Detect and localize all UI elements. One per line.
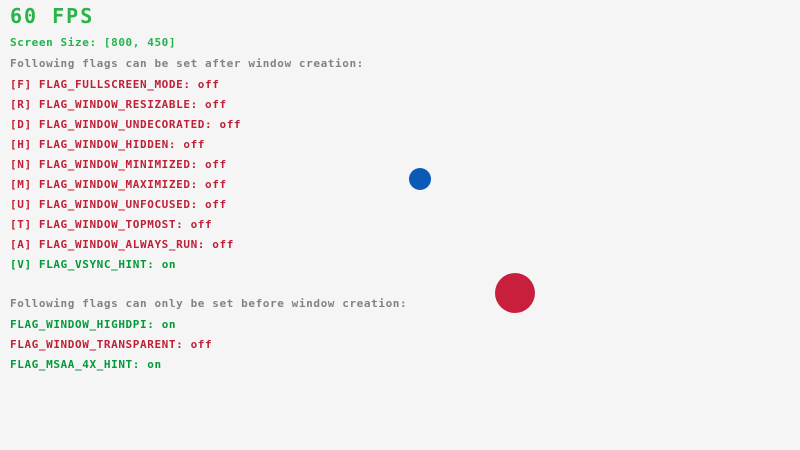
fps-counter: 60 FPS	[10, 6, 94, 26]
flag-row[interactable]: FLAG_WINDOW_TRANSPARENT: off	[10, 339, 212, 359]
flag-row[interactable]: [V] FLAG_VSYNC_HINT: on	[10, 259, 241, 279]
ball-red-circle	[495, 273, 535, 313]
flag-name: FLAG_WINDOW_UNDECORATED	[39, 118, 205, 131]
flag-value: off	[191, 218, 213, 231]
flag-row[interactable]: [T] FLAG_WINDOW_TOPMOST: off	[10, 219, 241, 239]
flag-hotkey: [M]	[10, 178, 39, 191]
flag-value: on	[162, 258, 176, 271]
flag-value: off	[212, 238, 234, 251]
flag-hotkey: [R]	[10, 98, 39, 111]
flag-value: on	[147, 358, 161, 371]
flag-separator: :	[133, 358, 147, 371]
flag-separator: :	[169, 138, 183, 151]
flag-name: FLAG_MSAA_4X_HINT	[10, 358, 133, 371]
flag-name: FLAG_VSYNC_HINT	[39, 258, 147, 271]
flag-row[interactable]: [H] FLAG_WINDOW_HIDDEN: off	[10, 139, 241, 159]
flag-hotkey: [U]	[10, 198, 39, 211]
flag-value: off	[205, 178, 227, 191]
flag-value: off	[191, 338, 213, 351]
flag-value: off	[205, 158, 227, 171]
flag-name: FLAG_WINDOW_UNFOCUSED	[39, 198, 191, 211]
flag-hotkey: [H]	[10, 138, 39, 151]
runtime-flags-list: [F] FLAG_FULLSCREEN_MODE: off[R] FLAG_WI…	[10, 79, 241, 279]
flag-value: off	[183, 138, 205, 151]
flag-hotkey: [T]	[10, 218, 39, 231]
flag-name: FLAG_WINDOW_TRANSPARENT	[10, 338, 176, 351]
flag-separator: :	[198, 238, 212, 251]
flag-row[interactable]: [D] FLAG_WINDOW_UNDECORATED: off	[10, 119, 241, 139]
flag-name: FLAG_FULLSCREEN_MODE	[39, 78, 183, 91]
runtime-flags-header: Following flags can be set after window …	[10, 58, 364, 70]
flag-hotkey: [V]	[10, 258, 39, 271]
ball-blue-circle	[409, 168, 431, 190]
flag-name: FLAG_WINDOW_ALWAYS_RUN	[39, 238, 198, 251]
creation-flags-header: Following flags can only be set before w…	[10, 298, 407, 310]
creation-flags-list: FLAG_WINDOW_HIGHDPI: onFLAG_WINDOW_TRANS…	[10, 319, 212, 379]
raylib-window-canvas[interactable]: 60 FPS Screen Size: [800, 450] Following…	[0, 0, 800, 450]
flag-separator: :	[147, 318, 161, 331]
flag-separator: :	[176, 338, 190, 351]
flag-separator: :	[205, 118, 219, 131]
flag-name: FLAG_WINDOW_MAXIMIZED	[39, 178, 191, 191]
flag-value: off	[198, 78, 220, 91]
flag-hotkey: [D]	[10, 118, 39, 131]
flag-name: FLAG_WINDOW_HIGHDPI	[10, 318, 147, 331]
flag-hotkey: [F]	[10, 78, 39, 91]
flag-value: off	[205, 98, 227, 111]
flag-value: on	[162, 318, 176, 331]
flag-separator: :	[191, 178, 205, 191]
flag-separator: :	[176, 218, 190, 231]
screen-size-label: Screen Size: [800, 450]	[10, 37, 176, 49]
flag-separator: :	[147, 258, 161, 271]
flag-row[interactable]: [M] FLAG_WINDOW_MAXIMIZED: off	[10, 179, 241, 199]
flag-name: FLAG_WINDOW_MINIMIZED	[39, 158, 191, 171]
flag-row[interactable]: [U] FLAG_WINDOW_UNFOCUSED: off	[10, 199, 241, 219]
flag-hotkey: [A]	[10, 238, 39, 251]
flag-value: off	[219, 118, 241, 131]
flag-row[interactable]: [R] FLAG_WINDOW_RESIZABLE: off	[10, 99, 241, 119]
flag-hotkey: [N]	[10, 158, 39, 171]
flag-name: FLAG_WINDOW_TOPMOST	[39, 218, 176, 231]
flag-separator: :	[191, 98, 205, 111]
flag-row[interactable]: FLAG_MSAA_4X_HINT: on	[10, 359, 212, 379]
flag-name: FLAG_WINDOW_RESIZABLE	[39, 98, 191, 111]
flag-value: off	[205, 198, 227, 211]
flag-separator: :	[183, 78, 197, 91]
flag-separator: :	[191, 158, 205, 171]
flag-row[interactable]: FLAG_WINDOW_HIGHDPI: on	[10, 319, 212, 339]
flag-row[interactable]: [N] FLAG_WINDOW_MINIMIZED: off	[10, 159, 241, 179]
flag-row[interactable]: [A] FLAG_WINDOW_ALWAYS_RUN: off	[10, 239, 241, 259]
flag-row[interactable]: [F] FLAG_FULLSCREEN_MODE: off	[10, 79, 241, 99]
flag-separator: :	[191, 198, 205, 211]
flag-name: FLAG_WINDOW_HIDDEN	[39, 138, 169, 151]
